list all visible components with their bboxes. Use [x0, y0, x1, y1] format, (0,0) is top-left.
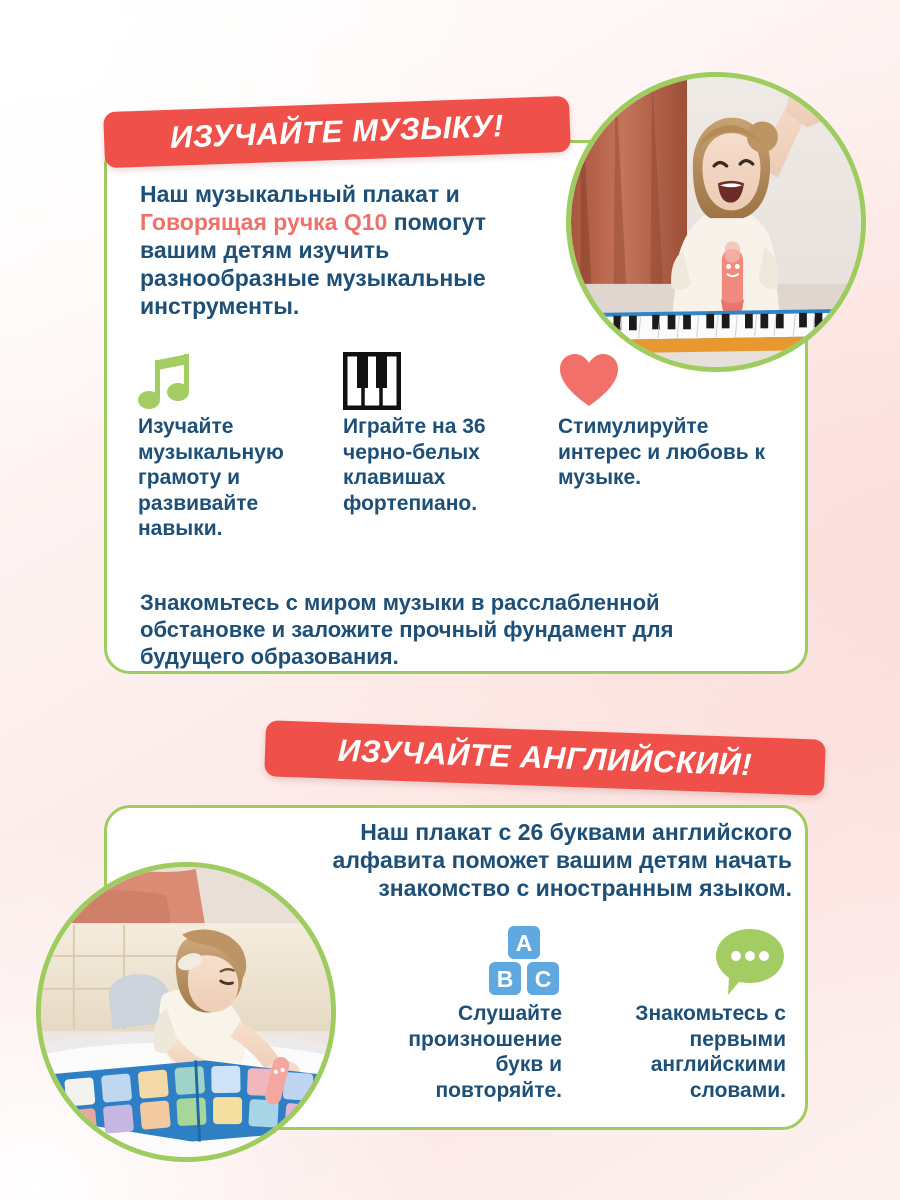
music-photo	[566, 72, 866, 372]
music-note-icon	[138, 352, 328, 414]
music-feature-2: Играйте на 36 черно-белых клавишах форте…	[343, 352, 533, 516]
piano-keys-icon	[343, 352, 533, 414]
english-feature-2: Знакомьтесь с первыми английскими словам…	[596, 925, 786, 1103]
music-intro-line3: вашим детям изучить	[140, 237, 389, 263]
music-feature-2-label: Играйте на 36 черно-белых клавишах форте…	[343, 414, 533, 516]
music-intro-line4: разнообразные музыкальные	[140, 265, 486, 291]
music-feature-3: Стимулируйте интерес и любовь к музыке.	[558, 352, 788, 491]
english-photo	[36, 862, 336, 1162]
english-photo-image	[41, 867, 331, 1157]
english-intro-paragraph: Наш плакат с 26 буквами английского алфа…	[300, 818, 792, 902]
abc-blocks-icon: A B C	[380, 925, 562, 1001]
music-intro-line5: инструменты.	[140, 293, 299, 319]
english-feature-1: A B C Слушайте произношение букв и повто…	[380, 925, 562, 1103]
music-feature-1-label: Изучайте музыкальную грамоту и развивайт…	[138, 414, 328, 542]
english-feature-1-label: Слушайте произношение букв и повторяйте.	[380, 1001, 562, 1103]
music-feature-1: Изучайте музыкальную грамоту и развивайт…	[138, 352, 328, 542]
english-feature-2-label: Знакомьтесь с первыми английскими словам…	[596, 1001, 786, 1103]
music-footer-paragraph: Знакомьтесь с миром музыки в расслабленн…	[140, 590, 780, 670]
music-feature-3-label: Стимулируйте интерес и любовь к музыке.	[558, 414, 788, 491]
svg-text:C: C	[535, 966, 552, 992]
svg-text:A: A	[516, 930, 533, 956]
music-photo-image	[571, 77, 861, 367]
speech-bubble-icon	[596, 925, 786, 1001]
svg-text:B: B	[497, 966, 514, 992]
music-intro-line1: Наш музыкальный плакат и	[140, 181, 460, 207]
music-intro-after-accent: помогут	[387, 209, 486, 235]
music-intro-paragraph: Наш музыкальный плакат и Говорящая ручка…	[140, 180, 540, 320]
music-intro-accent: Говорящая ручка Q10	[140, 209, 387, 235]
